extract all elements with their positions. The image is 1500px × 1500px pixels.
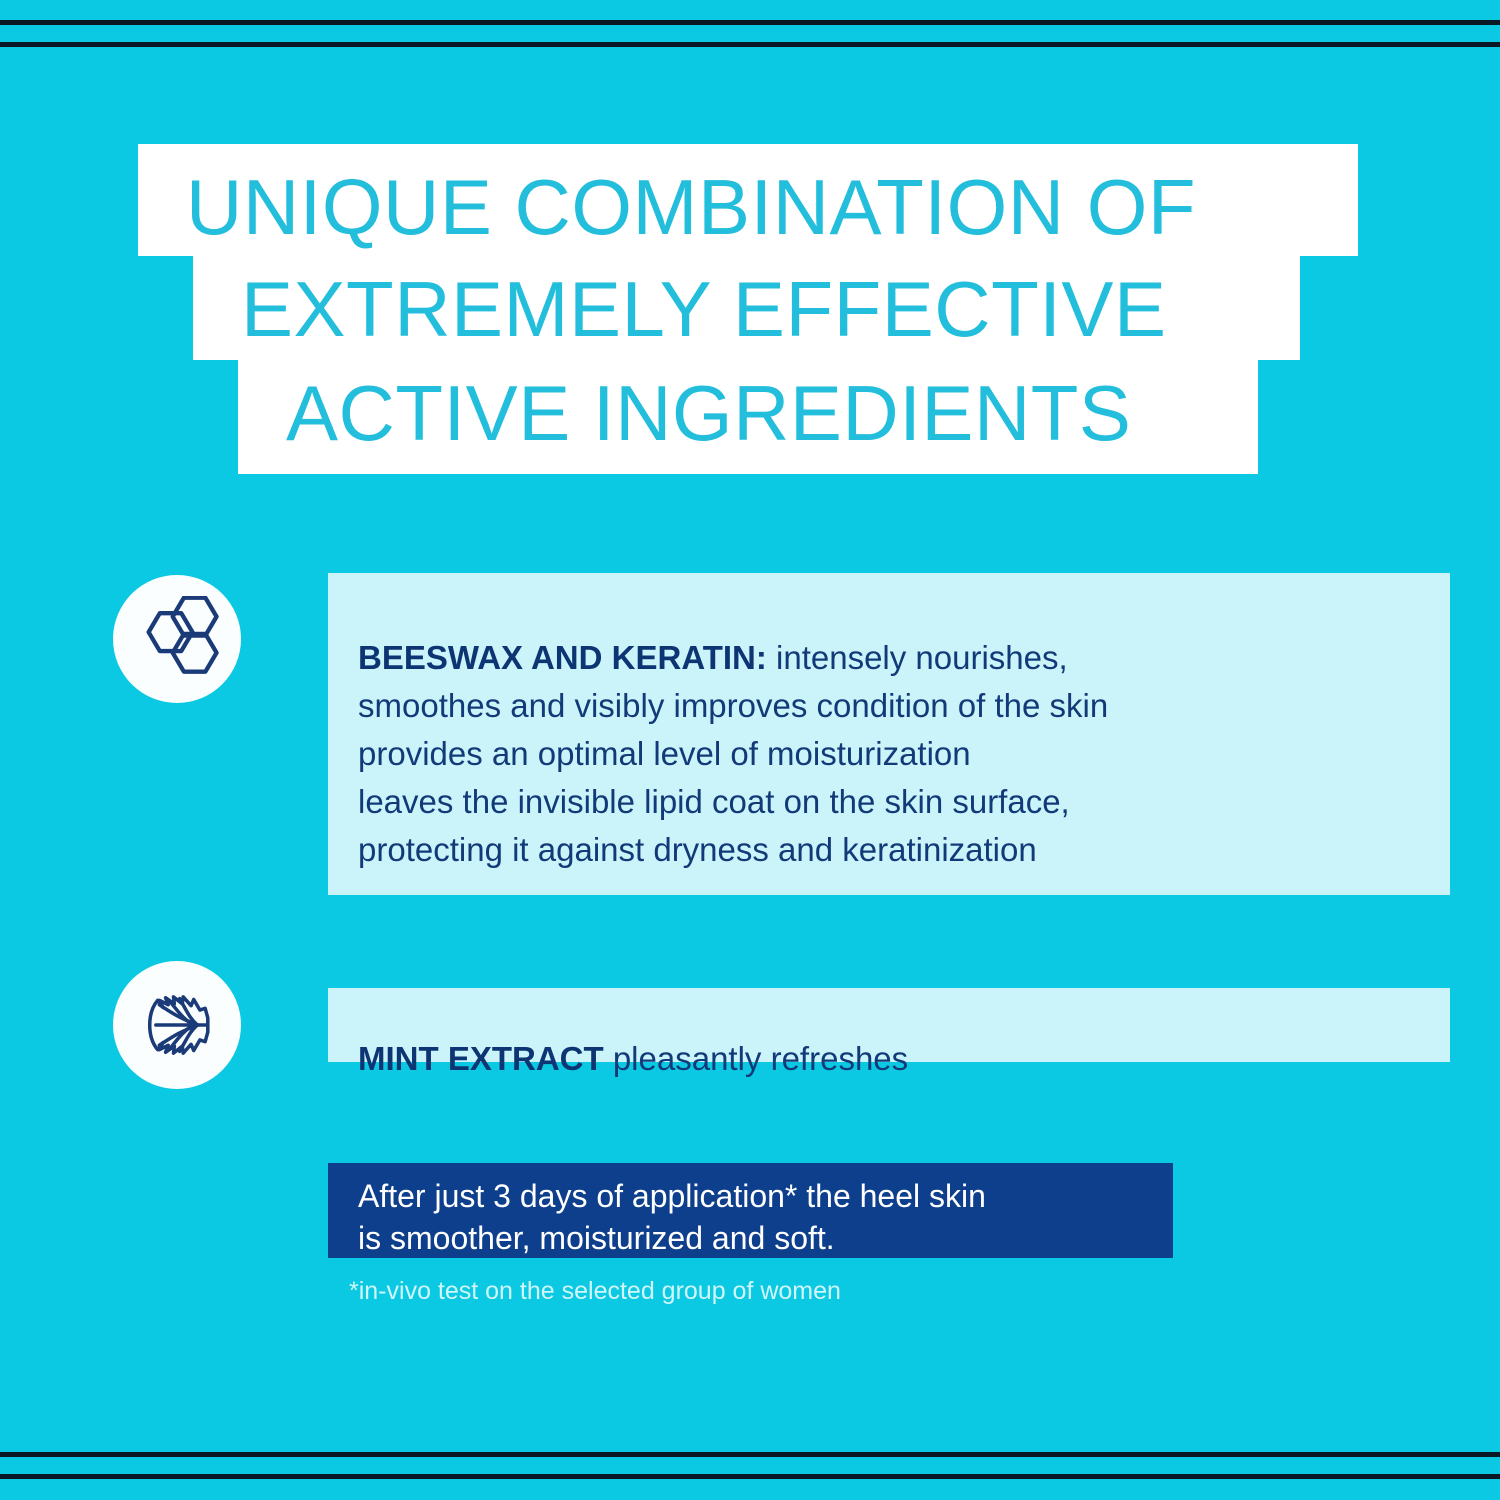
honeycomb-icon: [113, 575, 241, 703]
result-highlight-line-2: is smoother, moisturized and soft.: [358, 1217, 1173, 1259]
ingredient-beeswax-line-4: protecting it against dryness and kerati…: [358, 831, 1037, 868]
bottom-rule-lower: [0, 1474, 1500, 1479]
ingredient-beeswax-line-1: smoothes and visibly improves condition …: [358, 687, 1108, 724]
result-highlight-line-1: After just 3 days of application* the he…: [358, 1175, 1173, 1217]
mint-leaf-icon: [113, 961, 241, 1089]
ingredient-beeswax-text: BEESWAX AND KERATIN: intensely nourishes…: [358, 634, 1410, 874]
bottom-rule-upper: [0, 1452, 1500, 1457]
footnote: *in-vivo test on the selected group of w…: [349, 1275, 841, 1307]
top-rule-upper: [0, 20, 1500, 25]
ingredient-card-mint: MINT EXTRACT pleasantly refreshes: [328, 988, 1450, 1062]
result-highlight-box: After just 3 days of application* the he…: [328, 1163, 1173, 1258]
page-title-line-2: EXTREMELY EFFECTIVE: [193, 256, 1300, 360]
ingredient-mint-lead: MINT EXTRACT: [358, 1040, 604, 1077]
page-title: UNIQUE COMBINATION OF EXTREMELY EFFECTIV…: [0, 144, 1500, 474]
page-title-line-3: ACTIVE INGREDIENTS: [238, 360, 1258, 474]
ingredient-mint-text: MINT EXTRACT pleasantly refreshes: [358, 1035, 1450, 1083]
ingredient-card-beeswax: BEESWAX AND KERATIN: intensely nourishes…: [328, 573, 1450, 895]
page-title-line-1: UNIQUE COMBINATION OF: [138, 144, 1358, 256]
ingredient-mint-intro: pleasantly refreshes: [604, 1040, 909, 1077]
ingredient-beeswax-intro: intensely nourishes,: [767, 639, 1068, 676]
ingredient-beeswax-line-2: provides an optimal level of moisturizat…: [358, 735, 971, 772]
ingredient-beeswax-lead: BEESWAX AND KERATIN:: [358, 639, 767, 676]
top-rule-lower: [0, 42, 1500, 47]
ingredient-beeswax-line-3: leaves the invisible lipid coat on the s…: [358, 783, 1070, 820]
